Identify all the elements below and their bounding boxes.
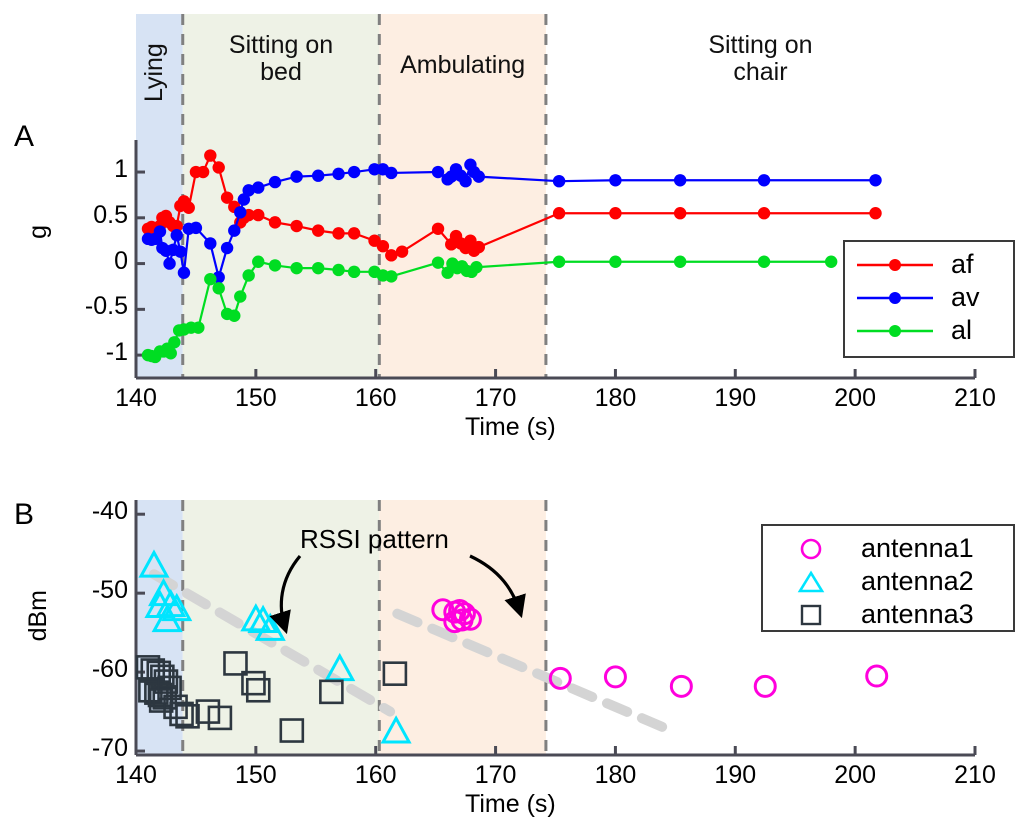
- point-af: [473, 241, 485, 253]
- point-af: [432, 223, 444, 235]
- point-antenna1: [867, 666, 887, 686]
- point-al: [168, 336, 180, 348]
- legend-line-marker-icon: [853, 254, 937, 276]
- panel-b-letter: B: [14, 498, 34, 532]
- point-av: [609, 174, 621, 186]
- point-av: [290, 170, 302, 182]
- figure-root: LyingSitting onbedAmbulatingSitting onch…: [0, 0, 1024, 832]
- panel-b-ytick-label: -40: [40, 497, 128, 526]
- point-af: [252, 209, 264, 221]
- point-af: [674, 207, 686, 219]
- point-av: [174, 245, 186, 257]
- panel-b-legend: antenna1antenna2antenna3: [761, 524, 1015, 632]
- panel-a-legend-item-av[interactable]: av: [845, 281, 1013, 314]
- panel-b-xtick-label: 150: [221, 761, 291, 790]
- panel-b-legend-label: antenna3: [861, 599, 974, 630]
- panel-b-ytick-label: -50: [40, 576, 128, 605]
- phase-label-line: Lying: [141, 28, 168, 118]
- point-al: [674, 256, 686, 268]
- point-av: [758, 174, 770, 186]
- legend-line-marker-icon: [853, 287, 937, 309]
- point-antenna1: [755, 676, 775, 696]
- point-al: [252, 256, 264, 268]
- panel-b-legend-item-antenna2[interactable]: antenna2: [763, 565, 1013, 598]
- point-al: [242, 269, 254, 281]
- point-af: [183, 202, 195, 214]
- point-af: [553, 207, 565, 219]
- point-av: [269, 176, 281, 188]
- panel-b-ylabel: dBm: [24, 590, 53, 641]
- panel-b-legend-item-antenna1[interactable]: antenna1: [763, 532, 1013, 565]
- point-al: [609, 256, 621, 268]
- panel-a-legend-label: af: [951, 249, 974, 280]
- point-af: [332, 227, 344, 239]
- panel-a-letter: A: [14, 120, 34, 154]
- point-af: [385, 249, 397, 261]
- phase-label-line: Ambulating: [353, 52, 573, 79]
- point-av: [553, 175, 565, 187]
- point-av: [163, 257, 175, 269]
- point-av: [674, 174, 686, 186]
- panel-b-xlabel: Time (s): [465, 790, 556, 819]
- panel-a-legend-item-al[interactable]: al: [845, 314, 1013, 347]
- panel-a-ytick-label: -1: [40, 338, 128, 367]
- panel-b-legend-label: antenna2: [861, 566, 974, 597]
- point-av: [459, 175, 471, 187]
- legend-line-marker-icon: [853, 320, 937, 342]
- point-al: [432, 256, 444, 268]
- point-al: [290, 262, 302, 274]
- legend-circle-marker-icon: [791, 534, 835, 564]
- point-al: [234, 290, 246, 302]
- point-af: [213, 161, 225, 173]
- panel-b-xtick-label: 170: [461, 761, 531, 790]
- point-av: [252, 181, 264, 193]
- point-av: [332, 168, 344, 180]
- point-af: [204, 149, 216, 161]
- panel-a-xlabel: Time (s): [465, 413, 556, 442]
- point-av: [234, 206, 246, 218]
- point-af: [609, 207, 621, 219]
- panel-a-ytick-label: 1: [40, 155, 128, 184]
- point-af: [758, 207, 770, 219]
- panel-a-xtick-label: 140: [101, 384, 171, 413]
- panel-b-legend-item-antenna3[interactable]: antenna3: [763, 598, 1013, 631]
- panel-a-xtick-label: 200: [820, 384, 890, 413]
- legend-square-marker-icon: [791, 600, 835, 630]
- panel-b-xtick-label: 180: [580, 761, 650, 790]
- panel-b-ytick-label: -60: [40, 655, 128, 684]
- point-av: [869, 174, 881, 186]
- point-al: [470, 261, 482, 273]
- point-av: [171, 229, 183, 241]
- phase-label-lying: Lying: [141, 28, 168, 118]
- point-av: [228, 224, 240, 236]
- point-antenna1: [671, 676, 691, 696]
- point-al: [348, 266, 360, 278]
- panel-a-legend-label: al: [951, 315, 972, 346]
- point-al: [758, 256, 770, 268]
- point-al: [385, 270, 397, 282]
- point-av: [221, 242, 233, 254]
- point-av: [178, 267, 190, 279]
- point-al: [825, 256, 837, 268]
- point-av: [204, 237, 216, 249]
- point-al: [269, 259, 281, 271]
- point-av: [154, 225, 166, 237]
- rssi-pattern-annotation: RSSI pattern: [300, 524, 449, 555]
- panel-b-ytick-label: -70: [40, 734, 128, 763]
- panel-a-xtick-label: 190: [700, 384, 770, 413]
- point-al: [204, 273, 216, 285]
- point-av: [385, 167, 397, 179]
- panel-b-xtick-label: 140: [101, 761, 171, 790]
- point-af: [396, 245, 408, 257]
- panel-b-xtick-label: 160: [341, 761, 411, 790]
- panel-a-legend-item-af[interactable]: af: [845, 248, 1013, 281]
- point-al: [312, 262, 324, 274]
- panel-b-xtick-label: 190: [700, 761, 770, 790]
- panel-a-ytick-label: 0: [40, 247, 128, 276]
- point-af: [312, 224, 324, 236]
- panel-b-xtick-label: 210: [940, 761, 1010, 790]
- legend-triangle-marker-icon: [791, 567, 835, 597]
- point-af: [869, 207, 881, 219]
- point-av: [473, 170, 485, 182]
- panel-a-xtick-label: 160: [341, 384, 411, 413]
- panel-a-legend-label: av: [951, 282, 980, 313]
- panel-b-legend-label: antenna1: [861, 533, 974, 564]
- point-al: [332, 264, 344, 276]
- panel-a-legend: afaval: [843, 240, 1015, 358]
- point-al: [192, 321, 204, 333]
- point-al: [165, 347, 177, 359]
- point-af: [377, 240, 389, 252]
- point-af: [348, 227, 360, 239]
- point-al: [213, 282, 225, 294]
- point-al: [228, 310, 240, 322]
- phase-label-line: Sitting on: [650, 32, 870, 59]
- phase-label-line: chair: [650, 59, 870, 86]
- panel-a-ytick-label: 0.5: [40, 201, 128, 230]
- panel-a-xtick-label: 210: [940, 384, 1010, 413]
- point-af: [197, 166, 209, 178]
- phase-label-ambulating: Ambulating: [353, 52, 573, 79]
- point-antenna1: [605, 667, 625, 687]
- panel-a-xtick-label: 150: [221, 384, 291, 413]
- panel-b-xtick-label: 200: [820, 761, 890, 790]
- point-af: [290, 220, 302, 232]
- point-af: [269, 216, 281, 228]
- panel-a-ylabel: g: [24, 225, 53, 239]
- point-av: [312, 170, 324, 182]
- point-av: [190, 222, 202, 234]
- panel-a-ytick-label: -0.5: [40, 292, 128, 321]
- point-av: [348, 166, 360, 178]
- point-al: [553, 256, 565, 268]
- panel-a-xtick-label: 180: [580, 384, 650, 413]
- phase-label-sitting-on-chair: Sitting onchair: [650, 32, 870, 86]
- panel-a-xtick-label: 170: [461, 384, 531, 413]
